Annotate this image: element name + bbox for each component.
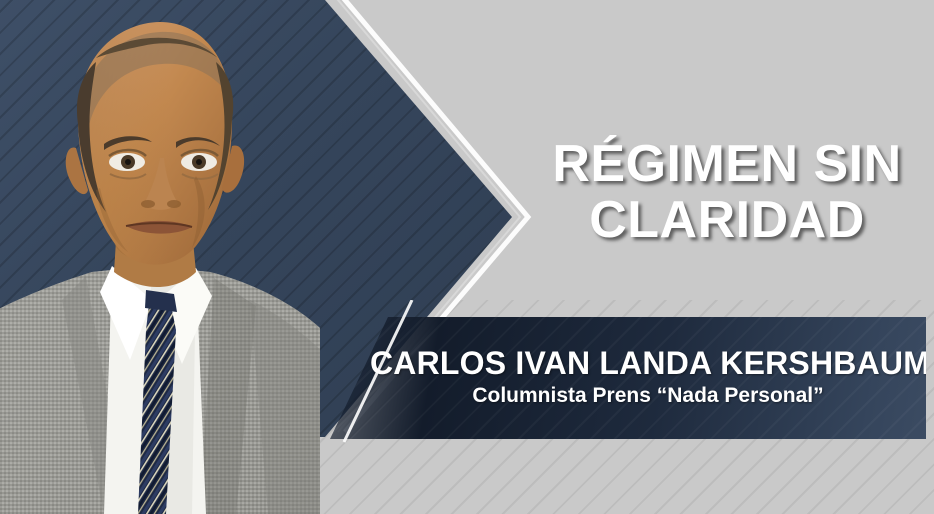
author-name: CARLOS IVAN LANDA KERSHBAUMER xyxy=(370,345,926,381)
author-name-bar-text: CARLOS IVAN LANDA KERSHBAUMER Columnista… xyxy=(330,317,926,411)
headline-line-2: CLARIDAD xyxy=(520,192,934,248)
author-name-bar: CARLOS IVAN LANDA KERSHBAUMER Columnista… xyxy=(330,317,926,439)
columnist-portrait xyxy=(0,0,320,514)
author-role: Columnista Prens “Nada Personal” xyxy=(370,381,926,411)
headline: RÉGIMEN SIN CLARIDAD xyxy=(520,136,934,248)
opinion-column-banner: RÉGIMEN SIN CLARIDAD CARLOS IVAN LANDA K… xyxy=(0,0,934,514)
headline-line-1: RÉGIMEN SIN xyxy=(520,136,934,192)
